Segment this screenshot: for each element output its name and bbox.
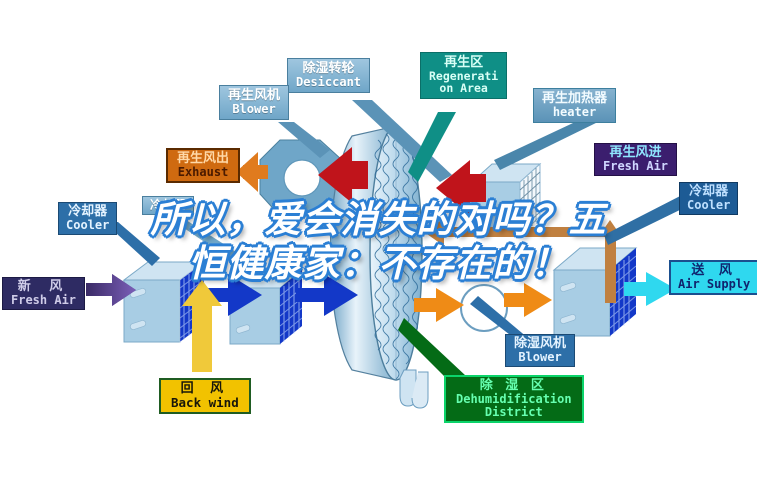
label-regen-heater-en: heater	[542, 106, 607, 119]
label-dehumid-district: 除 湿 区 Dehumidification District	[444, 375, 584, 423]
desiccant-dehumidifier-diagram: xr 除湿转轮 Desiccant 再生风机 Blower 再生区 Regene…	[0, 0, 757, 488]
label-dehumid-district-en2: District	[456, 406, 572, 419]
label-desiccant-rotor: 除湿转轮 Desiccant	[287, 58, 370, 93]
label-regeneration-area-cn: 再生区	[429, 56, 498, 70]
label-back-wind: 回 风 Back wind	[159, 378, 251, 414]
label-cooler-right-en: Cooler	[687, 199, 730, 212]
label-regen-fresh-air-cn: 再生风进	[603, 146, 668, 160]
label-air-supply-cn: 送 风	[678, 264, 750, 278]
label-cooler-left-1-en: Cooler	[66, 219, 109, 232]
label-dehumid-district-cn: 除 湿 区	[456, 379, 572, 393]
label-regen-heater-cn: 再生加热器	[542, 92, 607, 106]
label-fresh-air-inlet: 新 风 Fresh Air	[2, 277, 85, 310]
label-fresh-air-inlet-en: Fresh Air	[11, 294, 76, 307]
label-regen-exhaust-en: Exhaust	[177, 166, 229, 179]
label-cooler-right: 冷却器 Cooler	[679, 182, 738, 215]
label-regen-blower-cn: 再生风机	[228, 89, 280, 103]
label-air-supply: 送 风 Air Supply	[669, 260, 757, 295]
label-back-wind-cn: 回 风	[171, 382, 239, 396]
label-regen-exhaust: 再生风出 Exhaust	[166, 148, 240, 183]
label-desiccant-rotor-cn: 除湿转轮	[296, 62, 361, 76]
leader-lines	[0, 0, 757, 488]
label-desiccant-rotor-en: Desiccant	[296, 76, 361, 89]
label-regeneration-area-en2: on Area	[429, 82, 498, 94]
label-cooler-left-1: 冷却器 Cooler	[58, 202, 117, 235]
label-regen-fresh-air: 再生风进 Fresh Air	[594, 143, 677, 176]
label-cooler-left-1-cn: 冷却器	[66, 205, 109, 219]
label-dehumid-blower: 除湿风机 Blower	[505, 334, 575, 367]
label-dehumid-blower-en: Blower	[514, 351, 566, 364]
label-regeneration-area: 再生区 Regenerati on Area	[420, 52, 507, 99]
label-regen-blower-en: Blower	[228, 103, 280, 116]
label-cooler-left-2: 冷却器	[142, 196, 194, 215]
label-dehumid-blower-cn: 除湿风机	[514, 337, 566, 351]
label-back-wind-en: Back wind	[171, 396, 239, 410]
label-cooler-right-cn: 冷却器	[687, 185, 730, 199]
label-fresh-air-inlet-cn: 新 风	[11, 280, 76, 294]
label-regen-fresh-air-en: Fresh Air	[603, 160, 668, 173]
label-regen-blower: 再生风机 Blower	[219, 85, 289, 120]
label-cooler-left-2-cn: 冷却器	[150, 199, 186, 212]
label-regen-exhaust-cn: 再生风出	[177, 152, 229, 166]
label-regen-heater: 再生加热器 heater	[533, 88, 616, 123]
label-air-supply-en: Air Supply	[678, 278, 750, 291]
